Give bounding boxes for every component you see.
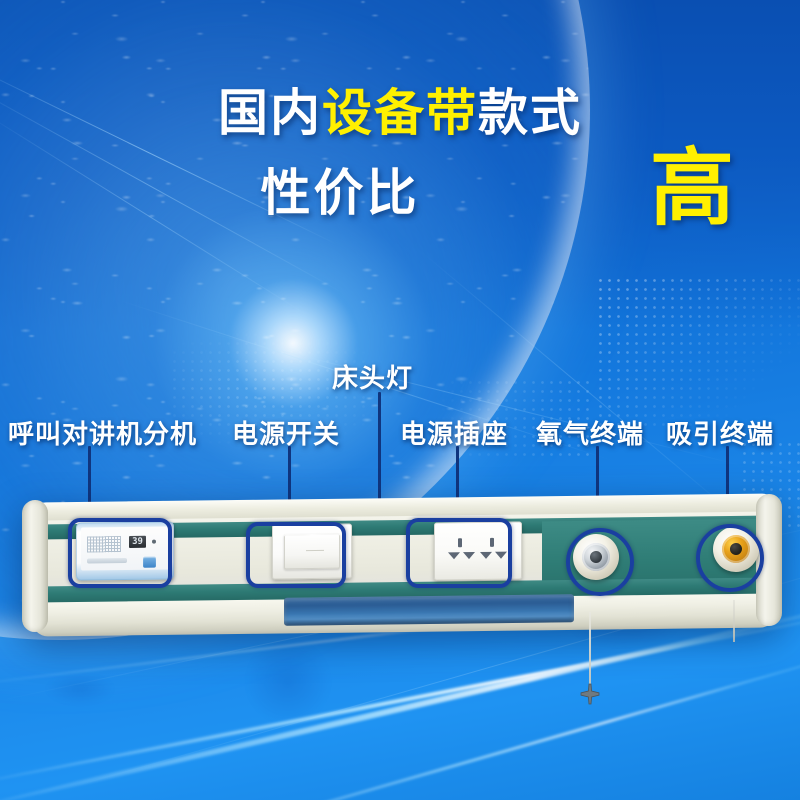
promo-image-stage: 国内设备带款式 性价比 高 呼叫对讲机分机 电源开关 床头灯 电源插座 氧气终端… bbox=[0, 0, 800, 800]
callout-label-power-socket: 电源插座 bbox=[400, 414, 508, 451]
headline-line-1: 国内设备带款式 bbox=[0, 88, 800, 138]
headline-line1-part1: 国内 bbox=[218, 85, 322, 141]
callout-label-oxygen: 氧气终端 bbox=[536, 414, 644, 451]
headline-emphasis-gao: 高 bbox=[650, 146, 734, 230]
highlight-box-power-socket bbox=[406, 518, 512, 588]
headline-line1-part2: 款式 bbox=[478, 85, 582, 141]
panel-endcap-left bbox=[22, 500, 48, 632]
headline-line1-highlight: 设备带 bbox=[322, 85, 478, 141]
callout-label-bedside-lamp: 床头灯 bbox=[332, 358, 413, 395]
highlight-circle-oxygen bbox=[566, 528, 634, 596]
highlight-circle-suction bbox=[696, 524, 764, 592]
bedside-lamp-diffuser[interactable] bbox=[284, 594, 574, 626]
headline-line-2: 性价比 bbox=[60, 168, 620, 218]
highlight-box-intercom bbox=[68, 518, 172, 588]
hanging-cable bbox=[589, 612, 591, 688]
halftone-dots-right bbox=[596, 276, 800, 426]
hanging-cable-secondary bbox=[733, 600, 735, 642]
callout-label-intercom: 呼叫对讲机分机 bbox=[8, 414, 197, 451]
callout-label-suction: 吸引终端 bbox=[666, 414, 774, 451]
cable-plug-icon bbox=[578, 682, 602, 706]
callout-label-power-switch: 电源开关 bbox=[232, 414, 340, 451]
highlight-box-power-switch bbox=[246, 522, 346, 588]
